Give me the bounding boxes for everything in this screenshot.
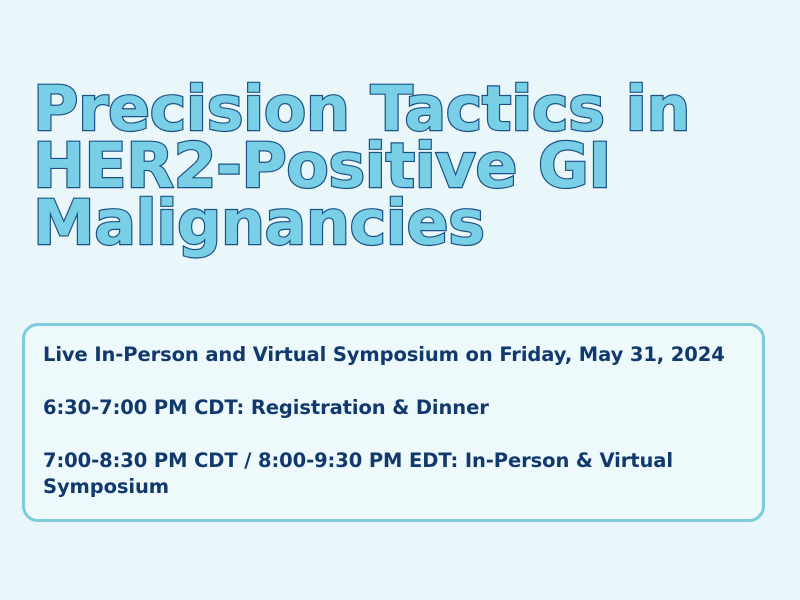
event-details-card: Live In-Person and Virtual Symposium on …: [22, 323, 765, 522]
symposium-time-line: 7:00-8:30 PM CDT / 8:00-9:30 PM EDT: In-…: [43, 448, 703, 500]
title-line-3: Malignancies: [33, 194, 753, 251]
page-title: Precision Tactics in HER2-Positive GI Ma…: [33, 80, 753, 251]
event-date-line: Live In-Person and Virtual Symposium on …: [43, 342, 740, 368]
registration-time-line: 6:30-7:00 PM CDT: Registration & Dinner: [43, 395, 740, 421]
event-poster: Precision Tactics in HER2-Positive GI Ma…: [0, 0, 800, 600]
